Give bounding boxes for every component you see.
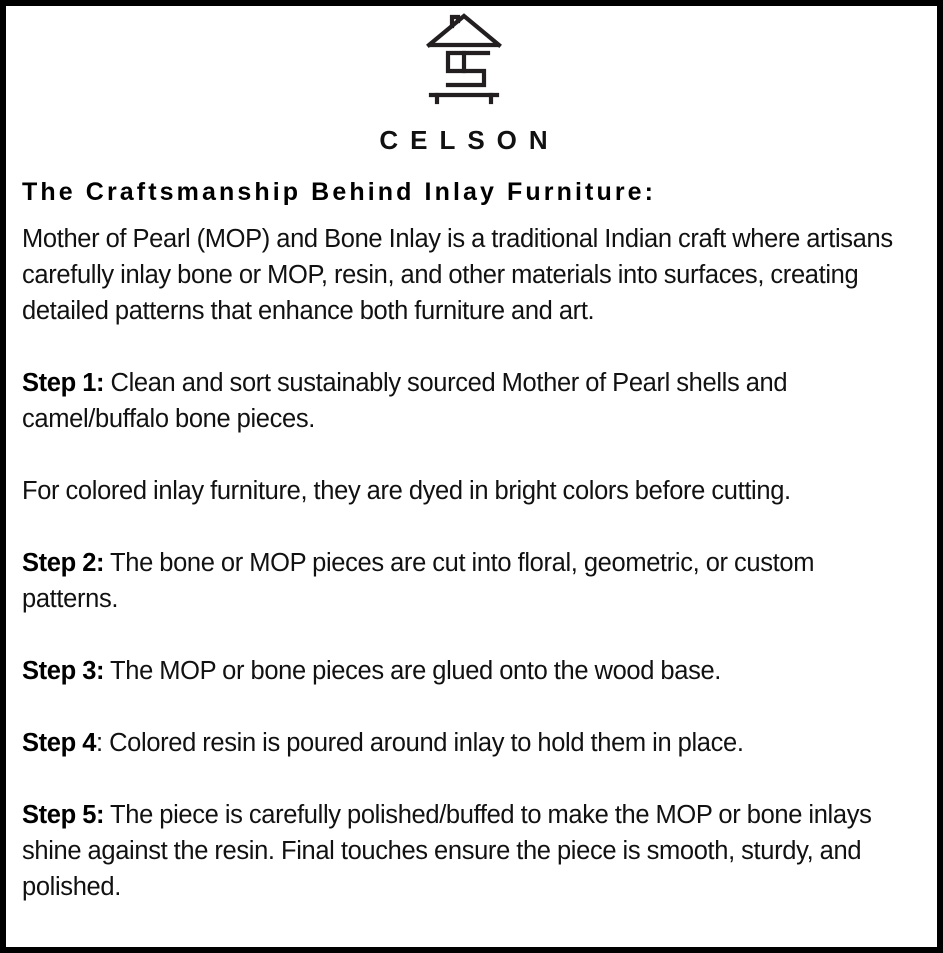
- step-label: Step 1:: [22, 369, 104, 397]
- paragraph-step-1: Step 1: Clean and sort sustainably sourc…: [22, 365, 911, 437]
- infographic-card: CELSON The Craftsmanship Behind Inlay Fu…: [0, 0, 943, 953]
- paragraph-text: For colored inlay furniture, they are dy…: [22, 477, 791, 505]
- brand-wordmark: CELSON: [367, 127, 559, 153]
- paragraph-step-3: Step 3: The MOP or bone pieces are glued…: [22, 653, 911, 689]
- paragraph-text: The piece is carefully polished/buffed t…: [22, 801, 872, 901]
- step-label: Step 5:: [22, 801, 104, 829]
- paragraph-intro: Mother of Pearl (MOP) and Bone Inlay is …: [22, 221, 911, 329]
- paragraph-text: Mother of Pearl (MOP) and Bone Inlay is …: [22, 225, 893, 325]
- brand-block: CELSON: [16, 10, 911, 153]
- paragraph-dye-note: For colored inlay furniture, they are dy…: [22, 473, 911, 509]
- house-monogram-icon: [426, 11, 502, 111]
- paragraph-step-4: Step 4: Colored resin is poured around i…: [22, 725, 911, 761]
- step-label: Step 2:: [22, 549, 104, 577]
- paragraph-step-2: Step 2: The bone or MOP pieces are cut i…: [22, 545, 911, 617]
- article-body: Mother of Pearl (MOP) and Bone Inlay is …: [22, 207, 911, 905]
- paragraph-text: : Colored resin is poured around inlay t…: [96, 729, 744, 757]
- step-label: Step 3:: [22, 657, 104, 685]
- paragraph-step-5: Step 5: The piece is carefully polished/…: [22, 797, 911, 905]
- page-title: The Craftsmanship Behind Inlay Furniture…: [22, 177, 911, 207]
- paragraph-text: The bone or MOP pieces are cut into flor…: [22, 549, 814, 613]
- step-label: Step 4: [22, 729, 96, 757]
- paragraph-text: Clean and sort sustainably sourced Mothe…: [22, 369, 787, 433]
- paragraph-text: The MOP or bone pieces are glued onto th…: [104, 657, 721, 685]
- card-inner: CELSON The Craftsmanship Behind Inlay Fu…: [6, 6, 937, 947]
